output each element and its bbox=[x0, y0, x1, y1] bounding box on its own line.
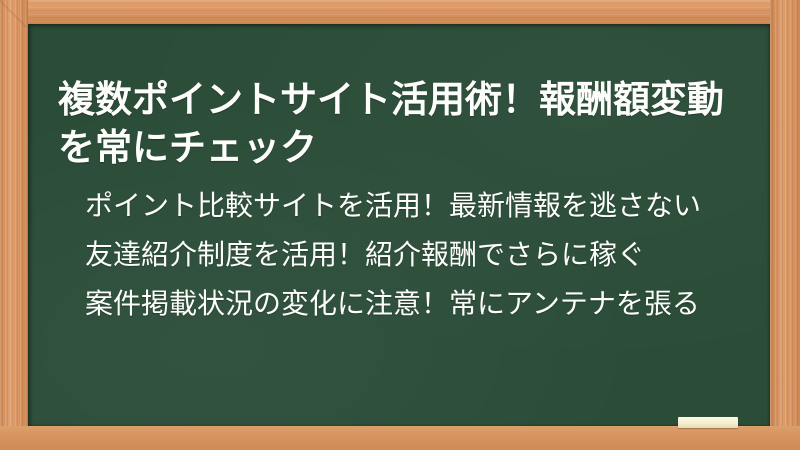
list-item: 案件掲載状況の変化に注意！常にアンテナを張る bbox=[85, 279, 765, 328]
chalk-stick-icon bbox=[678, 417, 738, 428]
chalkboard-surface: 複数ポイントサイト活用術！報酬額変動を常にチェック ポイント比較サイトを活用！最… bbox=[28, 24, 770, 427]
frame-rail-left bbox=[0, 0, 28, 450]
slide-title: 複数ポイントサイト活用術！報酬額変動を常にチェック bbox=[58, 76, 758, 172]
bullet-list: ポイント比較サイトを活用！最新情報を逃さない 友達紹介制度を活用！紹介報酬でさら… bbox=[85, 181, 765, 328]
frame-rail-right bbox=[770, 0, 800, 450]
frame-rail-top bbox=[0, 0, 800, 24]
chalkboard-slide: 複数ポイントサイト活用術！報酬額変動を常にチェック ポイント比較サイトを活用！最… bbox=[0, 0, 800, 450]
list-item: 友達紹介制度を活用！紹介報酬でさらに稼ぐ bbox=[85, 230, 765, 279]
list-item: ポイント比較サイトを活用！最新情報を逃さない bbox=[85, 181, 765, 230]
chalk-ledge bbox=[0, 426, 800, 450]
